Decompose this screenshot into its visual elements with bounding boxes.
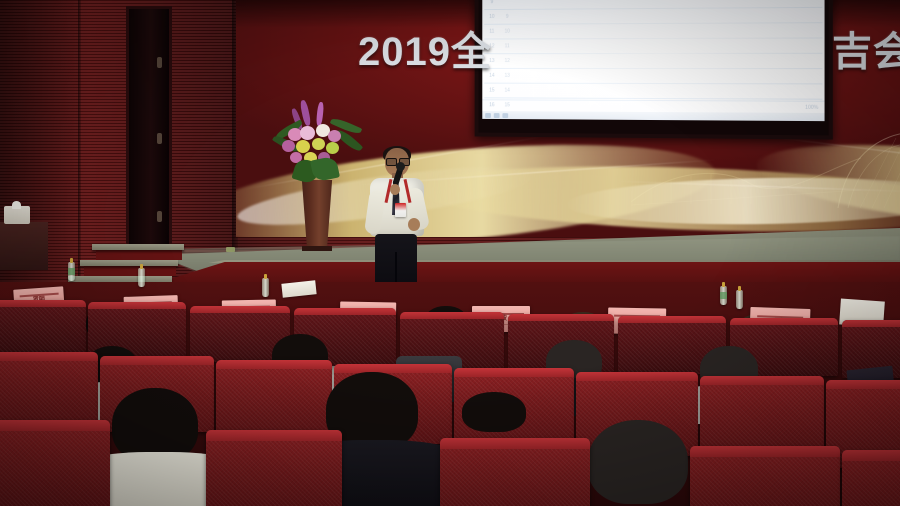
door-panel — [129, 9, 169, 245]
table-row: 12 11 — [484, 38, 822, 54]
banner-title-left: 2019全 — [358, 32, 492, 72]
seat-headrest — [216, 360, 332, 369]
cell: 14 — [500, 88, 515, 94]
side-table — [0, 222, 48, 270]
flower-spike — [316, 102, 324, 126]
seat-headrest — [206, 430, 342, 441]
taskbar-icon[interactable] — [494, 113, 500, 118]
audience-head — [112, 388, 198, 462]
flower-bloom — [312, 138, 325, 150]
vase-base — [302, 246, 332, 251]
cell: 12 — [500, 58, 515, 64]
seat-headrest — [0, 300, 86, 307]
seat-headrest — [826, 380, 900, 389]
seat-headrest — [100, 356, 214, 365]
seat-headrest — [618, 316, 726, 323]
seat-headrest — [294, 308, 396, 315]
flower-bloom — [328, 130, 341, 142]
row-number: 10 — [484, 14, 499, 20]
water-bottle — [138, 268, 145, 287]
hand — [390, 184, 400, 195]
banner-title-right: 吉会 — [832, 32, 900, 72]
row-number: 15 — [484, 88, 499, 94]
table-row: 15 14 — [484, 84, 822, 100]
seat-headrest — [0, 420, 110, 431]
speaker-person — [368, 148, 426, 288]
water-bottle — [720, 286, 727, 305]
door-handle-icon — [157, 211, 162, 222]
stage-small-object — [226, 247, 235, 252]
seat-headrest — [190, 306, 290, 313]
seat[interactable] — [216, 360, 332, 438]
cell: 11 — [500, 43, 515, 49]
seat-headrest — [454, 368, 574, 377]
stage-door[interactable] — [126, 6, 172, 248]
table-row: 13 12 — [484, 54, 822, 69]
seat[interactable] — [206, 430, 342, 506]
zoom-level-label: 100% — [805, 105, 818, 111]
spreadsheet-content: 9 10 9 11 10 — [484, 0, 822, 99]
seat-headrest — [690, 446, 840, 457]
seat[interactable] — [690, 446, 840, 506]
wall-seam — [78, 0, 81, 300]
taskbar[interactable] — [482, 111, 824, 121]
seat-headrest — [400, 312, 504, 319]
seat-headrest — [730, 318, 838, 325]
seat-headrest — [700, 376, 824, 385]
projection-screen: 9 10 9 11 10 — [475, 0, 833, 140]
audience-head — [462, 392, 526, 432]
water-bottle — [262, 278, 269, 297]
seat[interactable] — [0, 420, 110, 506]
cell — [702, 15, 822, 16]
seat[interactable] — [842, 450, 900, 506]
water-bottle — [736, 290, 743, 309]
cell — [515, 1, 614, 2]
table-row: 14 13 — [484, 69, 822, 84]
seat[interactable] — [0, 352, 98, 426]
cell: 10 — [500, 29, 515, 35]
table-row: 10 9 — [484, 8, 822, 25]
table-row: 11 10 — [484, 23, 822, 39]
seat[interactable] — [440, 438, 590, 506]
flower-bloom — [282, 140, 295, 152]
conference-photo-scene: 9 10 9 11 10 — [0, 0, 900, 506]
door-handle-icon — [157, 57, 162, 68]
water-bottle — [68, 262, 75, 281]
screen-surface: 9 10 9 11 10 — [482, 0, 824, 121]
flower-bloom — [300, 126, 315, 140]
seat-headrest — [88, 302, 186, 309]
seat-headrest — [508, 314, 614, 321]
cell — [702, 0, 822, 1]
name-badge — [395, 203, 406, 217]
cell: 9 — [500, 14, 515, 20]
flower-bloom — [296, 140, 310, 153]
audience-head — [588, 420, 688, 504]
flower-bouquet — [272, 100, 364, 186]
microphone-head — [396, 162, 405, 171]
seat-headrest — [0, 352, 98, 361]
taskbar-icon[interactable] — [502, 113, 508, 118]
stage-step — [80, 260, 178, 266]
cell — [515, 16, 614, 17]
seat[interactable] — [0, 300, 86, 356]
seat-headrest — [842, 320, 900, 327]
seat-headrest — [334, 364, 452, 373]
seat-headrest — [576, 372, 698, 381]
hand — [408, 218, 420, 231]
stage-step — [92, 244, 184, 250]
seat-headrest — [842, 450, 900, 461]
tissue-box — [4, 206, 30, 224]
cell — [515, 120, 614, 121]
seat-headrest — [440, 438, 590, 449]
row-number: 9 — [484, 0, 499, 5]
taskbar-icon[interactable] — [485, 113, 491, 118]
flower-bloom — [326, 142, 339, 154]
cell: 13 — [500, 73, 515, 79]
door-handle-icon — [157, 133, 162, 144]
